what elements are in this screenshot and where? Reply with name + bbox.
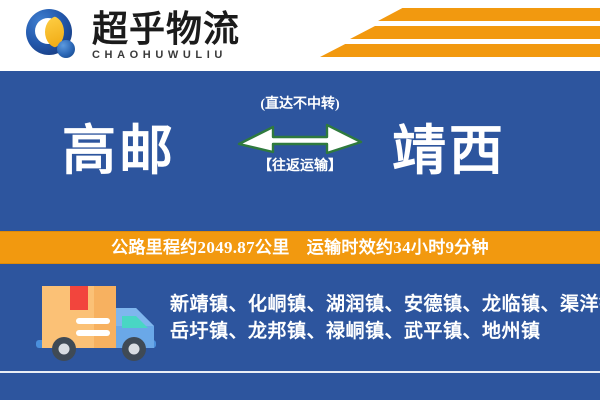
stripe-top <box>378 8 600 21</box>
stripe-bottom <box>320 44 600 57</box>
towns-line-2: 岳圩镇、龙邦镇、禄峒镇、武平镇、地州镇 <box>170 318 600 345</box>
destination-city-label: 靖西 <box>392 122 506 180</box>
footer-strip <box>0 373 600 400</box>
brand-name-cn: 超乎物流 <box>92 10 240 48</box>
served-towns-section: 新靖镇、化峒镇、湖润镇、安德镇、龙临镇、渠洋镇、 岳圩镇、龙邦镇、禄峒镇、武平镇… <box>0 264 600 372</box>
decorative-stripes <box>320 8 600 64</box>
logo-accent-dot-icon <box>57 40 75 58</box>
origin-city-label: 高邮 <box>62 122 176 180</box>
header-bar: 超乎物流 CHAOHUWULIU <box>0 0 600 71</box>
route-arrow-block: (直达不中转) 【往返运输】 <box>228 96 372 208</box>
direct-shipping-note: (直达不中转) <box>228 96 372 114</box>
brand-logo-group[interactable]: 超乎物流 CHAOHUWULIU <box>24 6 240 66</box>
circle-q-logo-icon <box>24 7 82 65</box>
route-section: 高邮 (直达不中转) 【往返运输】 靖西 <box>0 72 600 229</box>
delivery-truck-icon <box>18 274 168 366</box>
roundtrip-note: 【往返运输】 <box>228 158 372 176</box>
brand-name-en: CHAOHUWULIU <box>92 49 240 62</box>
stripe-middle <box>350 26 600 39</box>
brand-text-block: 超乎物流 CHAOHUWULIU <box>92 10 240 62</box>
logistics-route-banner: 超乎物流 CHAOHUWULIU 高邮 (直达不中转) 【往返运输】 靖西 公路… <box>0 0 600 400</box>
served-towns-list: 新靖镇、化峒镇、湖润镇、安德镇、龙临镇、渠洋镇、 岳圩镇、龙邦镇、禄峒镇、武平镇… <box>170 291 600 345</box>
towns-line-1: 新靖镇、化峒镇、湖润镇、安德镇、龙临镇、渠洋镇、 <box>170 291 600 318</box>
distance-duration-bar: 公路里程约2049.87公里 运输时效约34小时9分钟 <box>0 231 600 264</box>
double-headed-arrow-icon <box>235 120 365 154</box>
distance-duration-text: 公路里程约2049.87公里 运输时效约34小时9分钟 <box>111 238 489 258</box>
